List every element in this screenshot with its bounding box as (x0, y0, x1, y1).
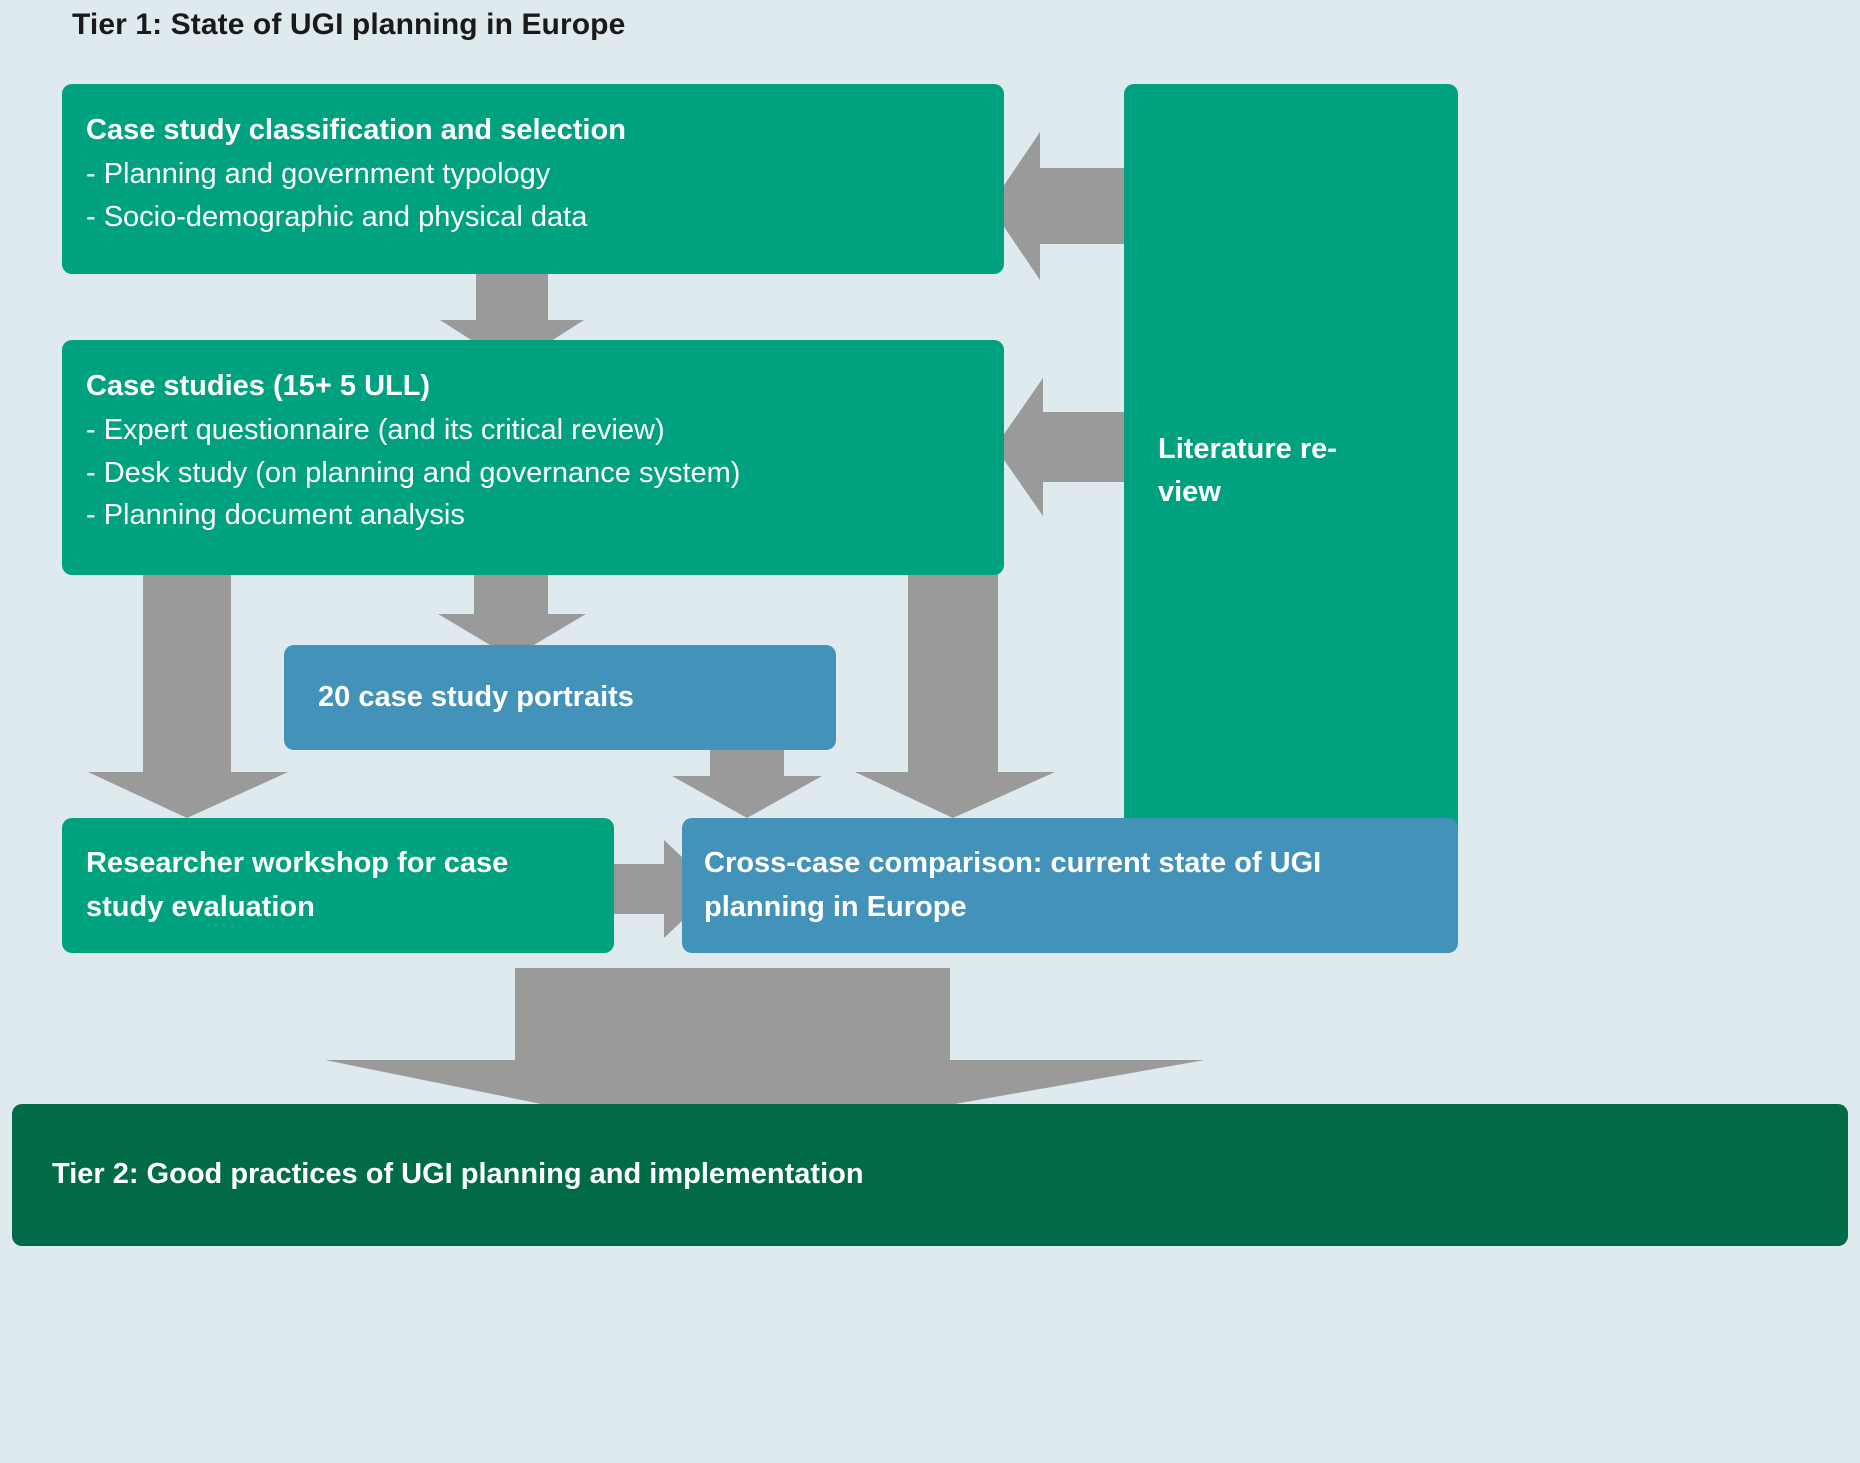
box-case-studies[interactable]: Case studies (15+ 5 ULL) - Expert questi… (62, 340, 1004, 575)
box-literature-review[interactable]: Literature re- view (1124, 84, 1458, 858)
portraits-title: 20 case study portraits (318, 676, 634, 720)
literature-review-line-1: Literature re- (1158, 428, 1337, 472)
arrow-case-studies-to-workshop-icon (88, 560, 288, 818)
tier2-title: Tier 2: Good practices of UGI planning a… (52, 1156, 864, 1194)
box-cross-case-comparison[interactable]: Cross-case comparison: current state of … (682, 818, 1458, 953)
box-tier2[interactable]: Tier 2: Good practices of UGI planning a… (12, 1104, 1848, 1246)
case-studies-bullet-1: - Expert questionnaire (and its critical… (86, 409, 980, 451)
diagram-canvas: Tier 1: State of UGI planning in Europe (0, 0, 1860, 1463)
case-selection-bullet-2: - Socio-demographic and physical data (86, 196, 980, 238)
workshop-line-1: Researcher workshop for case (86, 842, 508, 886)
literature-review-line-2: view (1158, 471, 1337, 515)
box-researcher-workshop[interactable]: Researcher workshop for case study evalu… (62, 818, 614, 953)
arrow-literature-to-case-studies-icon (995, 378, 1145, 516)
case-studies-title: Case studies (15+ 5 ULL) (86, 366, 980, 407)
cross-case-line-2: planning in Europe (704, 886, 1321, 930)
workshop-line-2: study evaluation (86, 886, 508, 930)
case-selection-bullet-1: - Planning and government typology (86, 153, 980, 195)
arrow-case-studies-to-cross-case-icon (855, 560, 1055, 818)
case-studies-bullet-2: - Desk study (on planning and governance… (86, 452, 980, 494)
cross-case-line-1: Cross-case comparison: current state of … (704, 842, 1321, 886)
case-studies-bullet-3: - Planning document analysis (86, 494, 980, 536)
box-case-study-classification[interactable]: Case study classification and selection … (62, 84, 1004, 274)
tier1-title: Tier 1: State of UGI planning in Europe (72, 8, 625, 42)
box-case-study-portraits[interactable]: 20 case study portraits (284, 645, 836, 750)
case-selection-title: Case study classification and selection (86, 110, 980, 151)
